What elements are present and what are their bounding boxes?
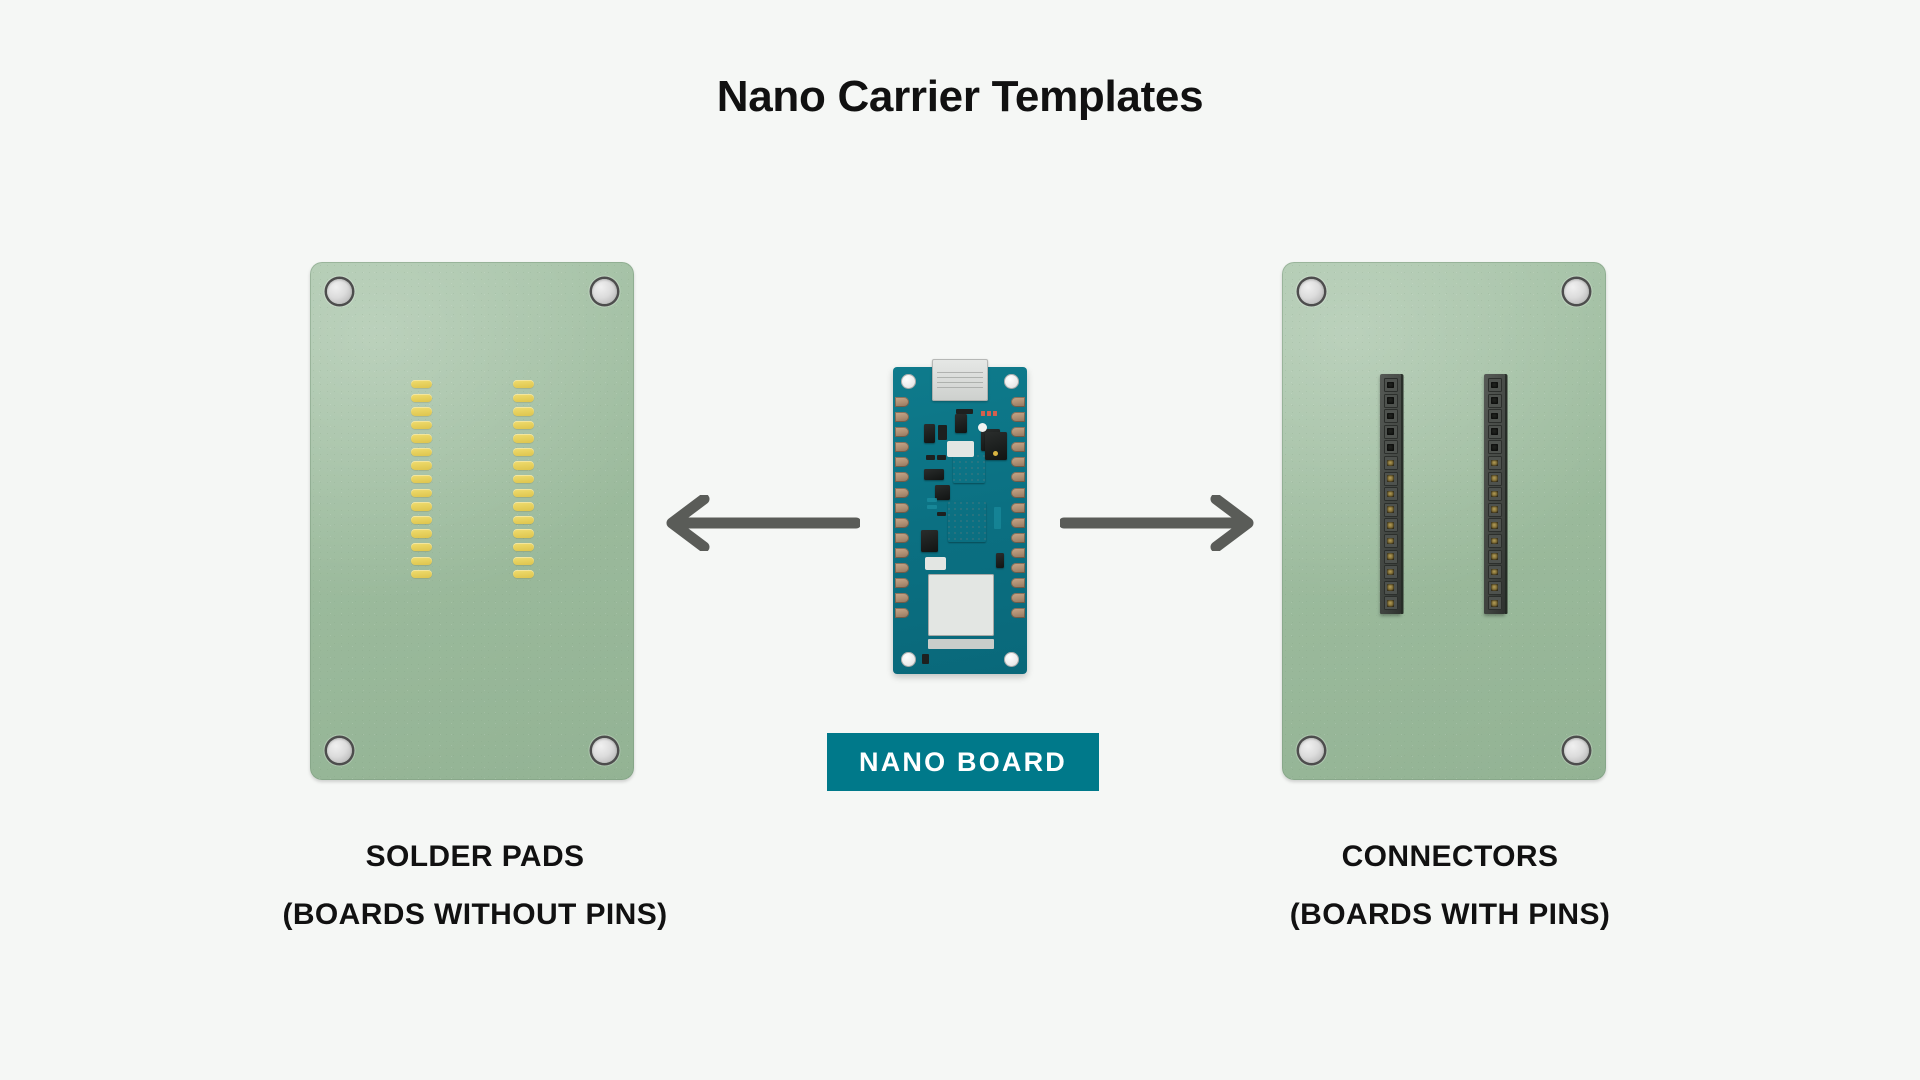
solder-pad xyxy=(411,529,432,537)
nano-edge-pad xyxy=(1011,503,1025,513)
caption-connectors-sub: (BOARDS WITH PINS) xyxy=(1140,898,1760,932)
solder-pad xyxy=(513,489,534,497)
nano-edge-pad xyxy=(895,503,909,513)
led-indicator xyxy=(978,423,987,432)
voltage-regulator xyxy=(955,414,967,433)
nano-edge-pad xyxy=(1011,608,1025,618)
nano-edge-pad xyxy=(1011,533,1025,543)
connector-carrier-board[interactable] xyxy=(1282,262,1606,780)
header-socket xyxy=(1488,503,1502,517)
nano-edge-pad xyxy=(895,608,909,618)
nano-edge-pad xyxy=(1011,397,1025,407)
header-socket xyxy=(1488,596,1502,610)
nano-edge-pad xyxy=(1011,412,1025,422)
solder-pad xyxy=(513,529,534,537)
soic-chip xyxy=(924,469,944,480)
silkscreen-mark-b xyxy=(927,505,937,509)
solder-pad xyxy=(411,475,432,483)
header-socket xyxy=(1488,565,1502,579)
header-socket xyxy=(1384,456,1398,470)
caption-connectors-main: CONNECTORS xyxy=(1140,840,1760,874)
resistor-a xyxy=(937,512,946,516)
nano-mounting-hole-top-right xyxy=(1004,374,1019,389)
solder-pad xyxy=(411,434,432,442)
capacitor-c xyxy=(937,455,946,460)
lower-trace xyxy=(933,643,983,646)
led-rgb-b xyxy=(987,411,991,416)
mounting-hole-top-right xyxy=(592,279,617,304)
mounting-hole-bottom-left xyxy=(327,738,352,763)
nano-mounting-hole-bottom-right xyxy=(1004,652,1019,667)
microcontroller-chip xyxy=(948,502,986,542)
header-socket xyxy=(1384,518,1398,532)
female-header-strip-left[interactable] xyxy=(1380,374,1401,614)
flash-memory-chip xyxy=(921,530,938,552)
nano-edge-pads-left xyxy=(895,397,909,618)
header-socket xyxy=(1488,394,1502,408)
header-socket xyxy=(1384,534,1398,548)
resistor-b xyxy=(922,654,929,664)
header-socket xyxy=(1384,394,1398,408)
solder-pad xyxy=(411,570,432,578)
header-socket xyxy=(1384,409,1398,423)
solder-pad xyxy=(411,489,432,497)
solder-pad xyxy=(513,394,534,402)
page-title: Nano Carrier Templates xyxy=(0,72,1920,122)
nano-edge-pad xyxy=(895,412,909,422)
silkscreen-mark-c xyxy=(994,507,1001,529)
capacitor-a xyxy=(938,425,947,440)
mosfet-chip xyxy=(924,424,935,443)
arrow-left-icon xyxy=(660,495,860,551)
solder-pad-column-right xyxy=(513,380,534,578)
solder-pad xyxy=(513,380,534,388)
header-socket xyxy=(1384,472,1398,486)
nano-edge-pad xyxy=(895,593,909,603)
led-rgb-c xyxy=(993,411,997,416)
solder-pad xyxy=(513,516,534,524)
mounting-hole-top-left xyxy=(327,279,352,304)
solder-pad xyxy=(411,461,432,469)
nano-mounting-hole-top-left xyxy=(901,374,916,389)
header-socket xyxy=(1488,378,1502,392)
header-socket xyxy=(1488,425,1502,439)
solder-pad xyxy=(411,502,432,510)
solder-pad xyxy=(411,557,432,565)
arduino-nano-board[interactable] xyxy=(893,367,1027,674)
imu-sensor xyxy=(925,557,946,570)
nano-edge-pad xyxy=(895,472,909,482)
side-component xyxy=(996,553,1004,568)
nano-edge-pad xyxy=(895,457,909,467)
nano-edge-pad xyxy=(895,427,909,437)
header-socket xyxy=(1384,503,1398,517)
header-socket xyxy=(1488,440,1502,454)
nano-edge-pad xyxy=(895,533,909,543)
mounting-hole-top-right xyxy=(1564,279,1589,304)
led-rgb-a xyxy=(981,411,985,416)
header-socket xyxy=(1384,581,1398,595)
solder-pad xyxy=(513,570,534,578)
solder-pad-column-left xyxy=(411,380,432,578)
caption-connectors: CONNECTORS (BOARDS WITH PINS) xyxy=(1140,840,1760,932)
nano-edge-pad xyxy=(1011,488,1025,498)
nano-edge-pad xyxy=(1011,593,1025,603)
small-ic-chip xyxy=(935,485,950,500)
nano-edge-pad xyxy=(895,397,909,407)
nano-edge-pad xyxy=(895,442,909,452)
nano-mounting-hole-bottom-left xyxy=(901,652,916,667)
nano-edge-pad xyxy=(1011,472,1025,482)
header-socket xyxy=(1384,550,1398,564)
solder-pad xyxy=(411,448,432,456)
nano-edge-pad xyxy=(1011,548,1025,558)
nano-edge-pad xyxy=(1011,442,1025,452)
header-socket xyxy=(1384,440,1398,454)
solder-pad xyxy=(513,407,534,415)
header-socket xyxy=(1384,378,1398,392)
header-socket xyxy=(1384,565,1398,579)
header-socket xyxy=(1384,487,1398,501)
nano-edge-pad xyxy=(895,548,909,558)
header-socket xyxy=(1384,425,1398,439)
nano-edge-pad xyxy=(895,578,909,588)
mounting-hole-bottom-right xyxy=(1564,738,1589,763)
header-socket xyxy=(1488,456,1502,470)
nano-board-badge-label: NANO BOARD xyxy=(859,747,1067,778)
solder-pad-carrier-board[interactable] xyxy=(310,262,634,780)
solder-pad xyxy=(513,543,534,551)
header-socket xyxy=(1488,409,1502,423)
mounting-hole-bottom-right xyxy=(592,738,617,763)
nano-edge-pad xyxy=(1011,563,1025,573)
gold-test-point xyxy=(993,451,998,456)
nano-edge-pad xyxy=(1011,457,1025,467)
nano-edge-pad xyxy=(1011,518,1025,528)
solder-pad xyxy=(513,421,534,429)
nano-edge-pad xyxy=(1011,578,1025,588)
header-socket xyxy=(1488,534,1502,548)
nano-edge-pads-right xyxy=(1011,397,1025,618)
header-socket xyxy=(1384,596,1398,610)
solder-pad xyxy=(513,448,534,456)
caption-solder-pads-main: SOLDER PADS xyxy=(165,840,785,874)
header-socket xyxy=(1488,550,1502,564)
solder-pad xyxy=(411,543,432,551)
mounting-hole-top-left xyxy=(1299,279,1324,304)
solder-pad xyxy=(411,516,432,524)
nano-edge-pad xyxy=(895,563,909,573)
header-socket xyxy=(1488,581,1502,595)
resistor-c xyxy=(956,409,973,414)
solder-pad xyxy=(411,407,432,415)
capacitor-b xyxy=(926,455,935,460)
arrow-right-icon xyxy=(1060,495,1260,551)
usb-c-connector-icon xyxy=(932,359,988,401)
nano-edge-pad xyxy=(895,488,909,498)
solder-pad xyxy=(411,380,432,388)
caption-solder-pads: SOLDER PADS (BOARDS WITHOUT PINS) xyxy=(165,840,785,932)
header-socket xyxy=(1488,472,1502,486)
nano-edge-pad xyxy=(1011,427,1025,437)
silkscreen-mark-a xyxy=(927,498,937,502)
solder-pad xyxy=(513,557,534,565)
solder-pad xyxy=(411,394,432,402)
solder-pad xyxy=(513,475,534,483)
header-socket xyxy=(1488,518,1502,532)
nano-edge-pad xyxy=(895,518,909,528)
antenna-module xyxy=(947,441,974,457)
female-header-strip-right[interactable] xyxy=(1484,374,1505,614)
solder-pad xyxy=(513,461,534,469)
shield-can xyxy=(928,574,994,636)
mounting-hole-bottom-left xyxy=(1299,738,1324,763)
caption-solder-pads-sub: (BOARDS WITHOUT PINS) xyxy=(165,898,785,932)
solder-pad xyxy=(411,421,432,429)
solder-pad xyxy=(513,502,534,510)
radio-module-chip xyxy=(953,455,985,483)
nano-board-badge[interactable]: NANO BOARD xyxy=(827,733,1099,791)
header-socket xyxy=(1488,487,1502,501)
solder-pad xyxy=(513,434,534,442)
